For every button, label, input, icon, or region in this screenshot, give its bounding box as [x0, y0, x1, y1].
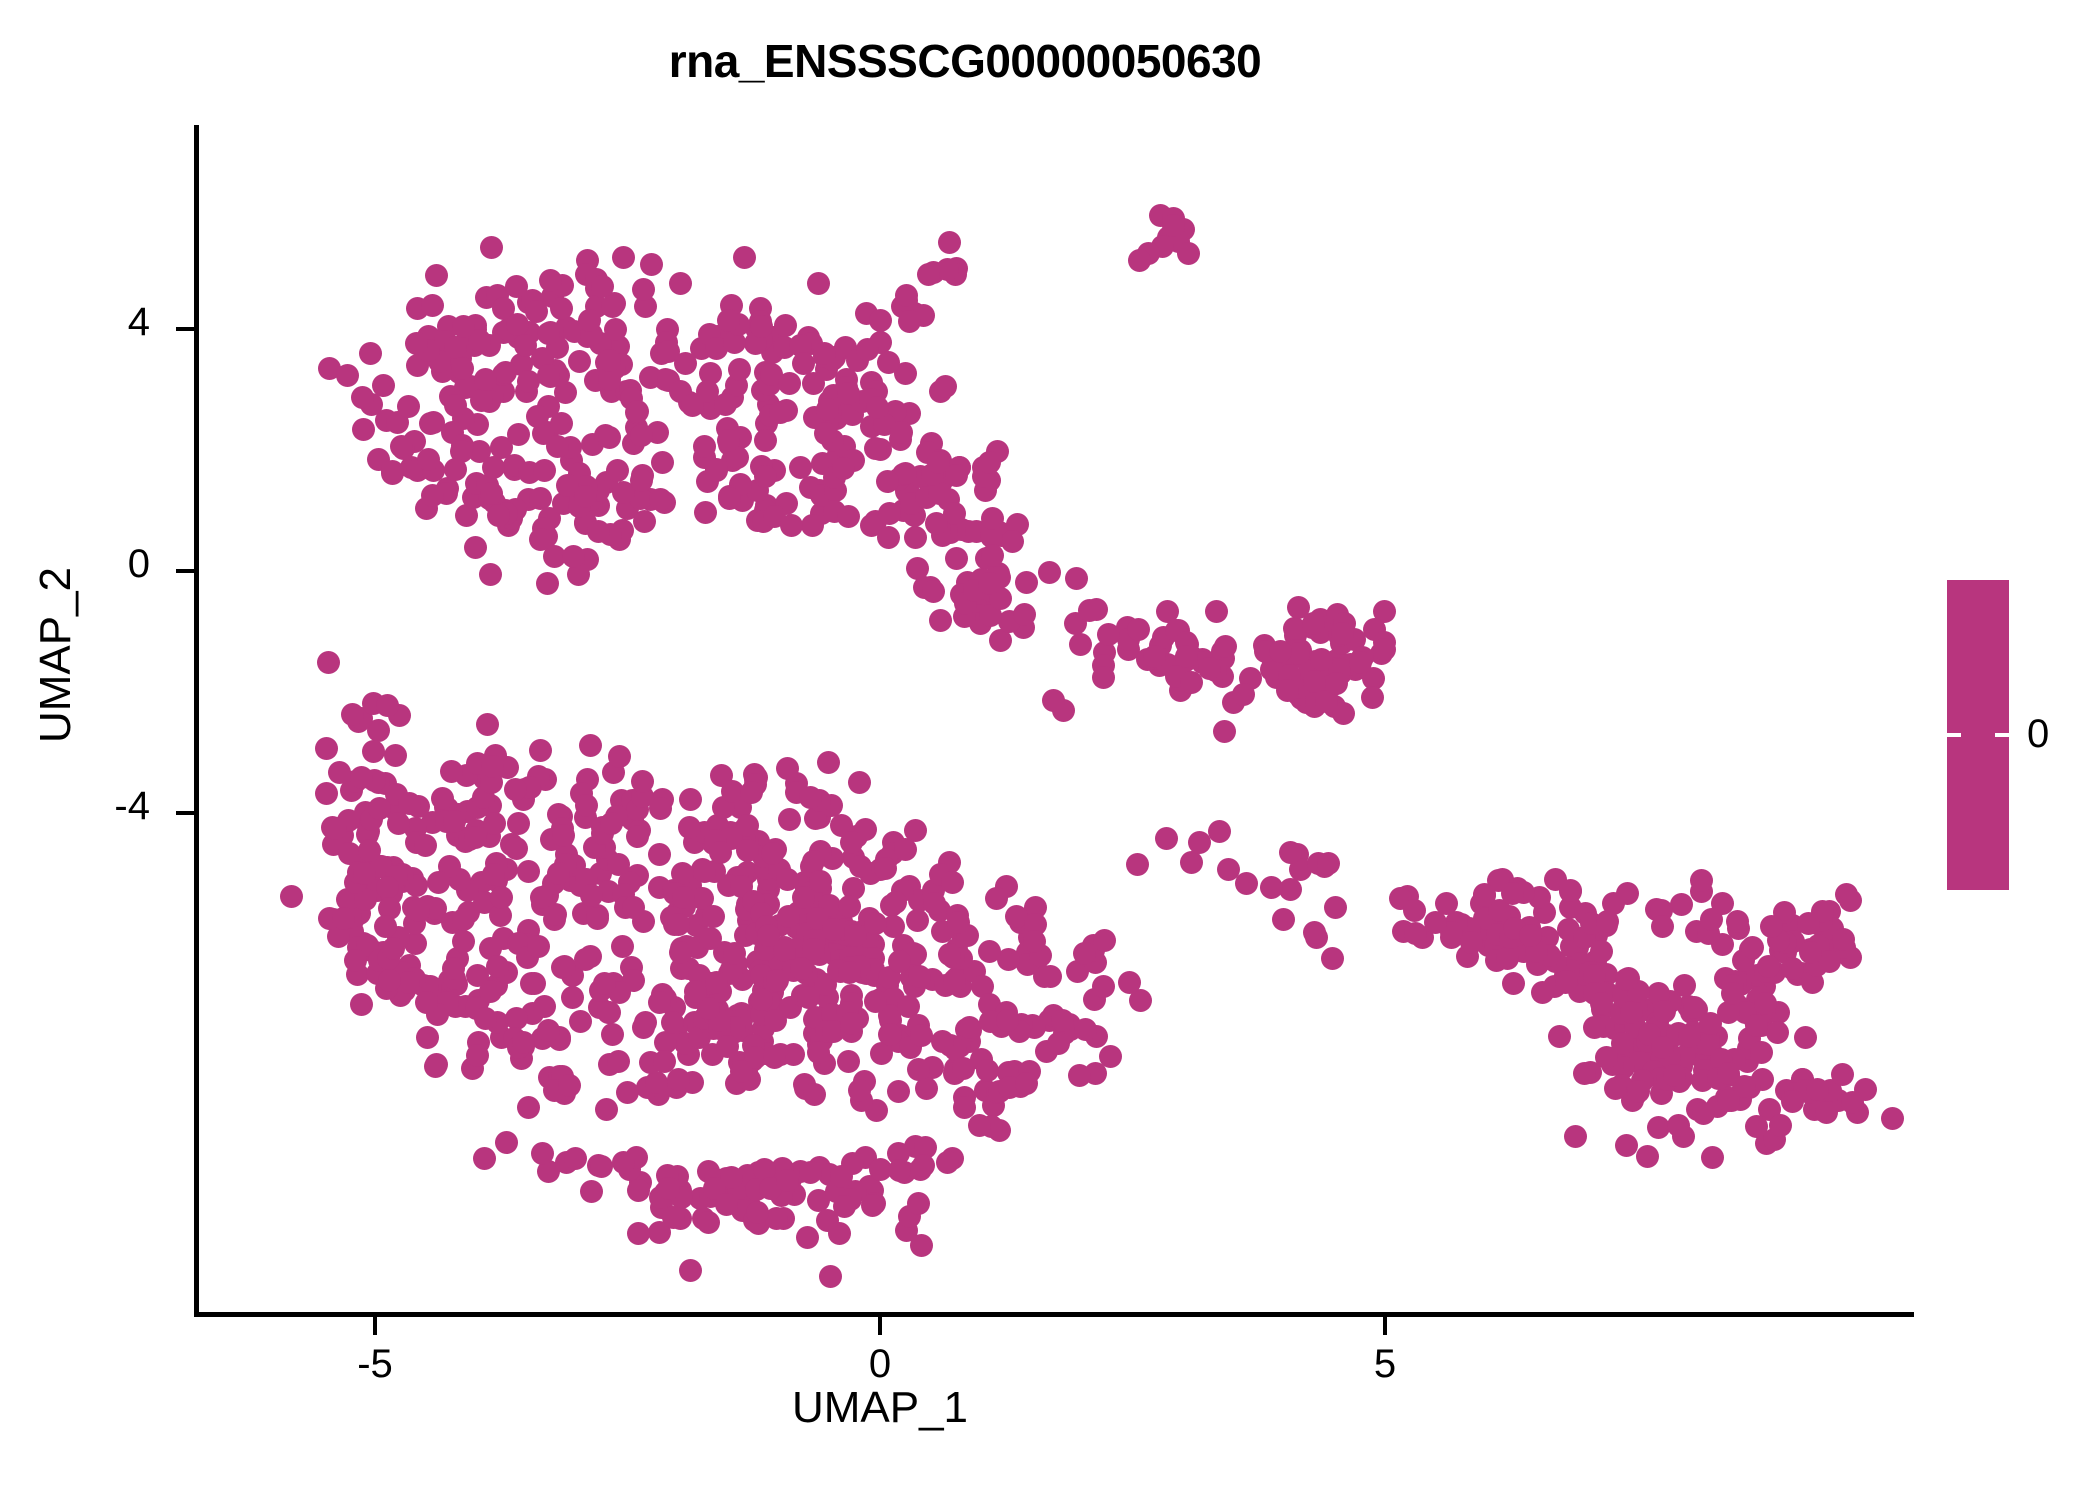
scatter-point [487, 504, 510, 527]
scatter-point [669, 272, 692, 295]
scatter-point [1881, 1107, 1904, 1130]
scatter-point [799, 1161, 822, 1184]
scatter-point [856, 338, 879, 361]
scatter-point [626, 825, 649, 848]
scatter-points-layer [197, 126, 1915, 1316]
scatter-point [931, 1030, 954, 1053]
scatter-point [1548, 1025, 1571, 1048]
scatter-point [627, 1222, 650, 1245]
scatter-point [715, 1193, 738, 1216]
scatter-point [376, 694, 399, 717]
scatter-point [1180, 851, 1203, 874]
scatter-point [421, 294, 444, 317]
scatter-point [908, 965, 931, 988]
legend-colorbar: 0 [1947, 580, 2087, 920]
scatter-point [1317, 852, 1340, 875]
scatter-point [1272, 908, 1295, 931]
scatter-point [936, 1151, 959, 1174]
scatter-point [604, 318, 627, 341]
scatter-point [1841, 1091, 1864, 1114]
scatter-point [550, 412, 573, 435]
scatter-point [1615, 968, 1638, 991]
scatter-point [1013, 603, 1036, 626]
scatter-point [598, 349, 621, 372]
scatter-point [1832, 928, 1855, 951]
scatter-point [728, 358, 751, 381]
scatter-point [923, 892, 946, 915]
scatter-point [1460, 931, 1483, 954]
plot-title: rna_ENSSSCG00000050630 [0, 34, 1930, 88]
scatter-point [1205, 600, 1228, 623]
scatter-point [378, 969, 401, 992]
scatter-point [877, 526, 900, 549]
scatter-point [952, 1057, 975, 1080]
scatter-point [593, 972, 616, 995]
scatter-point [1093, 929, 1116, 952]
scatter-point [813, 342, 836, 365]
scatter-point [376, 876, 399, 899]
scatter-point [750, 315, 773, 338]
scatter-point [537, 322, 560, 345]
scatter-point [996, 1009, 1019, 1032]
scatter-point [1373, 638, 1396, 661]
scatter-point [336, 364, 359, 387]
scatter-point [716, 1035, 739, 1058]
scatter-point [633, 510, 656, 533]
scatter-point [807, 272, 830, 295]
scatter-point [717, 429, 740, 452]
scatter-point [849, 855, 872, 878]
scatter-point [344, 949, 367, 972]
scatter-point [526, 405, 549, 428]
scatter-point [809, 870, 832, 893]
x-tick-mark-5 [1383, 1317, 1387, 1335]
scatter-point [1424, 911, 1447, 934]
scatter-point [651, 451, 674, 474]
scatter-point [631, 770, 654, 793]
scatter-point [351, 386, 374, 409]
scatter-point [350, 993, 373, 1016]
scatter-point [1690, 869, 1713, 892]
scatter-point [1001, 530, 1024, 553]
scatter-point [574, 485, 597, 508]
scatter-point [480, 236, 503, 259]
scatter-point [1015, 1072, 1038, 1095]
scatter-point [1276, 679, 1299, 702]
scatter-point [622, 896, 645, 919]
scatter-point [464, 536, 487, 559]
scatter-point [352, 418, 375, 441]
scatter-point [390, 435, 413, 458]
scatter-point [709, 841, 732, 864]
scatter-point [776, 1169, 799, 1192]
scatter-point [452, 908, 475, 931]
x-tick-mark--5 [373, 1317, 377, 1335]
scatter-point [1260, 876, 1283, 899]
scatter-point [789, 456, 812, 479]
scatter-point [667, 913, 690, 936]
scatter-point [1303, 921, 1326, 944]
scatter-point [580, 1180, 603, 1203]
scatter-point [648, 991, 671, 1014]
scatter-point [1663, 1064, 1686, 1087]
scatter-point [280, 885, 303, 908]
scatter-point [425, 1053, 448, 1076]
scatter-point [816, 398, 839, 421]
scatter-point [1831, 1063, 1854, 1086]
scatter-point [740, 781, 763, 804]
scatter-point [922, 580, 945, 603]
scatter-point [483, 812, 506, 835]
umap-feature-plot: rna_ENSSSCG00000050630 4 0 -4 -5 0 5 UMA… [0, 0, 2100, 1500]
scatter-point [694, 501, 717, 524]
scatter-point [640, 253, 663, 276]
scatter-point [1502, 972, 1525, 995]
scatter-point [1726, 910, 1749, 933]
scatter-point [315, 782, 338, 805]
scatter-point [1331, 622, 1354, 645]
scatter-point [981, 507, 1004, 530]
scatter-point [586, 907, 609, 930]
scatter-point [494, 361, 517, 384]
scatter-point [1188, 831, 1211, 854]
scatter-point [776, 868, 799, 891]
scatter-point [941, 871, 964, 894]
scatter-point [1806, 1078, 1829, 1101]
scatter-point [578, 309, 601, 332]
scatter-point [427, 871, 450, 894]
scatter-point [533, 995, 556, 1018]
scatter-point [945, 464, 968, 487]
y-tick-mark-4 [176, 327, 194, 331]
scatter-point [1235, 872, 1258, 895]
scatter-point [466, 964, 489, 987]
scatter-point [1361, 686, 1384, 709]
scatter-point [1590, 992, 1613, 1015]
x-tick-mark-0 [878, 1317, 882, 1335]
scatter-point [368, 797, 391, 820]
scatter-point [517, 860, 540, 883]
scatter-point [1815, 1101, 1838, 1124]
scatter-point [669, 941, 692, 964]
scatter-point [733, 246, 756, 269]
scatter-point [697, 1211, 720, 1234]
scatter-point [832, 457, 855, 480]
scatter-point [814, 422, 837, 445]
scatter-point [736, 839, 759, 862]
scatter-point [906, 909, 929, 932]
scatter-point [1604, 1077, 1627, 1100]
x-tick-label--5: -5 [315, 1342, 435, 1387]
scatter-point [888, 1159, 911, 1182]
scatter-point [507, 423, 530, 446]
scatter-point [1692, 1102, 1715, 1125]
scatter-point [907, 1058, 930, 1081]
scatter-point [558, 1074, 581, 1097]
scatter-point [1781, 1090, 1804, 1113]
scatter-point [530, 886, 553, 909]
scatter-point [425, 264, 448, 287]
scatter-point [359, 342, 382, 365]
scatter-point [1269, 640, 1292, 663]
scatter-point [1620, 1001, 1643, 1024]
scatter-point [861, 1194, 884, 1217]
scatter-point [415, 991, 438, 1014]
scatter-point [328, 761, 351, 784]
scatter-point [536, 572, 559, 595]
scatter-point [1128, 249, 1151, 272]
scatter-point [1287, 596, 1310, 619]
scatter-point [1127, 618, 1150, 641]
scatter-point [470, 389, 493, 412]
scatter-point [887, 1080, 910, 1103]
scatter-point [807, 1041, 830, 1064]
scatter-point [837, 1050, 860, 1073]
scatter-point [837, 382, 860, 405]
scatter-point [894, 838, 917, 861]
scatter-point [778, 808, 801, 831]
scatter-point [792, 886, 815, 909]
scatter-point [1670, 893, 1693, 916]
scatter-point [527, 935, 550, 958]
scatter-point [466, 1044, 489, 1067]
scatter-point [943, 969, 966, 992]
scatter-point [777, 905, 800, 928]
scatter-point [864, 990, 887, 1013]
scatter-point [315, 737, 338, 760]
scatter-point [780, 514, 803, 537]
scatter-point [934, 375, 957, 398]
scatter-point [1590, 940, 1613, 963]
colorbar-tick-right [1995, 733, 2009, 737]
scatter-point [517, 1096, 540, 1119]
scatter-point [819, 1265, 842, 1288]
scatter-point [679, 1259, 702, 1282]
scatter-point [358, 839, 381, 862]
scatter-point [595, 1098, 618, 1121]
scatter-point [1651, 915, 1674, 938]
scatter-point [1321, 947, 1344, 970]
scatter-point [1065, 567, 1088, 590]
scatter-point [681, 394, 704, 417]
scatter-point [590, 1155, 613, 1178]
scatter-point [539, 269, 562, 292]
scatter-point [607, 1050, 630, 1073]
scatter-point [1092, 666, 1115, 689]
scatter-point [612, 1151, 635, 1174]
plot-panel [197, 126, 1915, 1316]
scatter-point [754, 465, 777, 488]
scatter-point [514, 334, 537, 357]
scatter-point [649, 797, 672, 820]
scatter-point [1214, 635, 1237, 658]
scatter-point [895, 284, 918, 307]
scatter-point [817, 751, 840, 774]
scatter-point [976, 1059, 999, 1082]
scatter-point [473, 1147, 496, 1170]
scatter-point [398, 792, 421, 815]
scatter-point [1349, 651, 1372, 674]
scatter-point [1700, 908, 1723, 931]
scatter-point [649, 488, 672, 511]
x-tick-label-5: 5 [1325, 1342, 1445, 1387]
scatter-point [978, 940, 1001, 963]
scatter-point [384, 744, 407, 767]
scatter-point [452, 315, 475, 338]
scatter-point [1766, 1021, 1789, 1044]
scatter-point [662, 1206, 685, 1229]
scatter-point [616, 1081, 639, 1104]
scatter-point [575, 794, 598, 817]
scatter-point [537, 1019, 560, 1042]
x-axis-title: UMAP_1 [560, 1383, 1200, 1433]
scatter-point [482, 456, 505, 479]
scatter-point [1564, 1125, 1587, 1148]
scatter-point [1213, 720, 1236, 743]
scatter-point [1501, 882, 1524, 905]
scatter-point [746, 1201, 769, 1224]
scatter-point [600, 812, 623, 835]
scatter-point [1180, 671, 1203, 694]
scatter-point [876, 470, 899, 493]
y-tick-mark--4 [176, 811, 194, 815]
scatter-point [645, 1071, 668, 1094]
scatter-point [799, 786, 822, 809]
scatter-point [1673, 974, 1696, 997]
y-axis-title: UMAP_2 [31, 335, 81, 975]
scatter-point [702, 905, 725, 928]
scatter-point [1039, 965, 1062, 988]
scatter-point [407, 899, 430, 922]
scatter-point [479, 563, 502, 586]
scatter-point [1038, 561, 1061, 584]
scatter-point [353, 862, 376, 885]
scatter-point [754, 429, 777, 452]
scatter-point [978, 451, 1001, 474]
scatter-point [382, 937, 405, 960]
scatter-point [405, 332, 428, 355]
scatter-point [1496, 947, 1519, 970]
scatter-point [1757, 955, 1780, 978]
scatter-point [476, 713, 499, 736]
scatter-point [580, 884, 603, 907]
scatter-point [569, 1010, 592, 1033]
scatter-point [699, 927, 722, 950]
scatter-point [1839, 889, 1862, 912]
scatter-point [981, 544, 1004, 567]
scatter-point [730, 1060, 753, 1083]
scatter-point [1717, 1089, 1740, 1112]
scatter-point [648, 843, 671, 866]
y-tick-mark-0 [176, 569, 194, 573]
colorbar-gradient [1947, 580, 2009, 890]
scatter-point [958, 1016, 981, 1039]
scatter-point [803, 1083, 826, 1106]
scatter-point [714, 393, 737, 416]
scatter-point [678, 816, 701, 839]
scatter-point [693, 860, 716, 883]
scatter-point [912, 1154, 935, 1177]
scatter-point [606, 459, 629, 482]
scatter-point [1092, 975, 1115, 998]
scatter-point [350, 766, 373, 789]
scatter-point [481, 755, 504, 778]
scatter-point [1068, 1064, 1091, 1087]
scatter-point [653, 1050, 676, 1073]
scatter-point [579, 734, 602, 757]
scatter-point [1162, 214, 1185, 237]
scatter-point [444, 394, 467, 417]
scatter-point [869, 309, 892, 332]
scatter-point [561, 986, 584, 1009]
scatter-point [324, 817, 347, 840]
scatter-point [705, 459, 728, 482]
scatter-point [764, 1009, 787, 1032]
scatter-point [1126, 853, 1149, 876]
scatter-point [574, 948, 597, 971]
scatter-point [718, 487, 741, 510]
scatter-point [608, 745, 631, 768]
scatter-point [495, 1131, 518, 1154]
scatter-point [833, 1195, 856, 1218]
scatter-point [1797, 912, 1820, 935]
scatter-point [529, 739, 552, 762]
scatter-point [1403, 899, 1426, 922]
scatter-point [1750, 1041, 1773, 1064]
scatter-point [1636, 1145, 1659, 1168]
scatter-point [907, 1192, 930, 1215]
scatter-point [1208, 820, 1231, 843]
scatter-point [1745, 1014, 1768, 1037]
scatter-point [1232, 683, 1255, 706]
scatter-point [414, 834, 437, 857]
scatter-point [1099, 1045, 1122, 1068]
scatter-point [490, 886, 513, 909]
scatter-point [679, 788, 702, 811]
scatter-point [611, 935, 634, 958]
scatter-point [1051, 1009, 1074, 1032]
scatter-point [486, 955, 509, 978]
scatter-point [598, 426, 621, 449]
scatter-point [505, 837, 528, 860]
scatter-point [848, 771, 871, 794]
scatter-point [1531, 981, 1554, 1004]
legend-tick-label-0: 0 [2027, 712, 2049, 757]
scatter-point [1324, 896, 1347, 919]
scatter-point [796, 1226, 819, 1249]
scatter-point [1799, 941, 1822, 964]
scatter-point [1047, 1032, 1070, 1055]
scatter-point [362, 740, 385, 763]
scatter-point [1177, 242, 1200, 265]
scatter-point [874, 857, 897, 880]
scatter-point [1069, 633, 1092, 656]
scatter-point [1473, 884, 1496, 907]
scatter-point [968, 1114, 991, 1137]
scatter-point [1559, 879, 1582, 902]
scatter-point [848, 1079, 871, 1102]
scatter-point [1023, 930, 1046, 953]
scatter-point [1325, 672, 1348, 695]
scatter-point [1175, 645, 1198, 668]
scatter-point [601, 1023, 624, 1046]
scatter-point [938, 231, 961, 254]
scatter-point [1015, 571, 1038, 594]
scatter-point [520, 972, 543, 995]
scatter-point [1769, 1114, 1792, 1137]
scatter-point [898, 310, 921, 333]
scatter-point [529, 487, 552, 510]
